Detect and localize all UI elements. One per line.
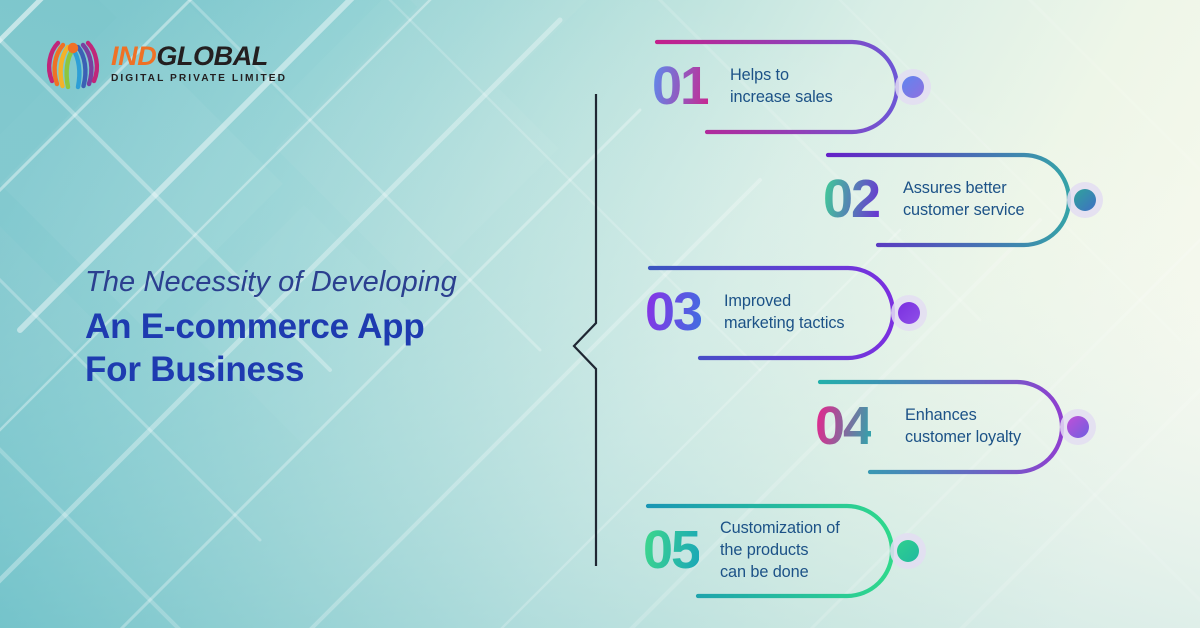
benefit-number-04: 04 bbox=[815, 399, 871, 453]
benefit-number-03: 03 bbox=[645, 285, 701, 339]
benefit-label-05: Customization of the products can be don… bbox=[720, 517, 840, 583]
benefit-dot[interactable] bbox=[898, 302, 920, 324]
benefit-dot[interactable] bbox=[902, 76, 924, 98]
benefit-dot[interactable] bbox=[1067, 416, 1089, 438]
benefit-number-02: 02 bbox=[823, 172, 879, 226]
benefit-number-01: 01 bbox=[652, 59, 708, 113]
benefit-label-04: Enhances customer loyalty bbox=[905, 404, 1021, 448]
benefit-dot[interactable] bbox=[897, 540, 919, 562]
benefit-label-01: Helps to increase sales bbox=[730, 64, 833, 108]
benefits-list bbox=[0, 0, 1200, 628]
benefit-label-02: Assures better customer service bbox=[903, 177, 1024, 221]
benefit-number-05: 05 bbox=[643, 523, 699, 577]
benefit-dot[interactable] bbox=[1074, 189, 1096, 211]
benefit-label-03: Improved marketing tactics bbox=[724, 290, 844, 334]
